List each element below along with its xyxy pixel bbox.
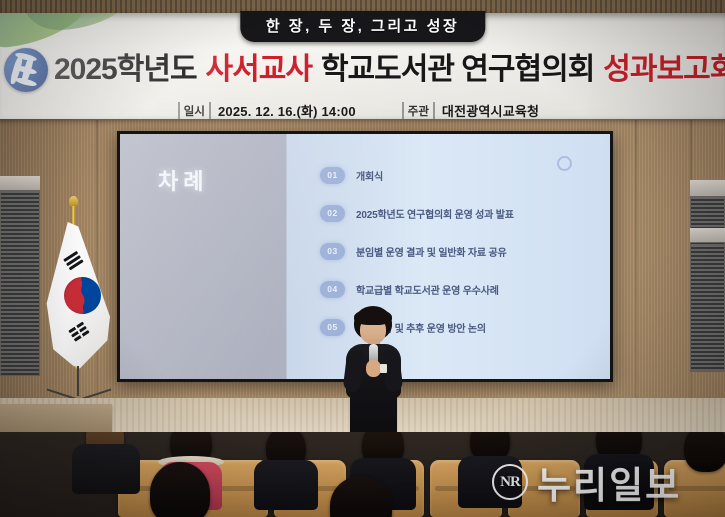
audience-head bbox=[684, 432, 725, 472]
audience-coat bbox=[72, 444, 140, 494]
presenter-name-badge bbox=[380, 364, 387, 373]
agenda-number-badge: 04 bbox=[320, 281, 345, 298]
banner-info-host-value: 대전광역시교육청 bbox=[442, 101, 539, 119]
agenda-item-label: 분임별 운영 결과 및 일반화 자료 공유 bbox=[356, 244, 506, 259]
banner-title-part-2: 사서교사 bbox=[206, 55, 312, 85]
flag-cloth bbox=[44, 222, 110, 370]
trigram-geon-icon bbox=[63, 251, 85, 272]
agenda-item-label: 개회식 bbox=[356, 168, 383, 183]
presenter-hair-front bbox=[354, 309, 392, 325]
banner-ribbon-tab: 한 장, 두 장, 그리고 성장 bbox=[240, 11, 485, 42]
presenter-with-microphone bbox=[330, 306, 416, 441]
agenda-number-badge: 02 bbox=[320, 205, 345, 222]
audience-head bbox=[150, 462, 210, 517]
right-vent-divider bbox=[690, 228, 725, 242]
banner-info-row: 일시 2025. 12. 16.(화) 14:00 주관 대전광역시교육청 bbox=[0, 101, 721, 119]
audience-coat bbox=[458, 456, 522, 508]
seated-audience bbox=[0, 432, 725, 517]
south-korea-flag-taegukgi bbox=[38, 196, 120, 416]
list-item: 04 학교급별 학교도서관 운영 우수사례 bbox=[320, 270, 610, 308]
taeguk-symbol-icon bbox=[57, 270, 108, 321]
conference-photo: 2025학년도 사서교사 학교도서관 연구협의회 성과보고회 일시 2025. … bbox=[0, 0, 725, 517]
banner-info-date-label: 일시 bbox=[178, 102, 211, 120]
banner-title: 2025학년도 사서교사 학교도서관 연구협의회 성과보고회 bbox=[54, 47, 716, 93]
daejeon-education-office-emblem bbox=[4, 48, 48, 92]
list-item: 03 분임별 운영 결과 및 일반화 자료 공유 bbox=[320, 232, 610, 270]
banner-title-part-3: 학교도서관 연구협의회 bbox=[321, 55, 594, 85]
banner-info-host: 주관 대전광역시교육청 bbox=[402, 101, 539, 119]
banner-info-date-value: 2025. 12. 16.(화) 14:00 bbox=[218, 101, 356, 119]
list-item: 02 2025학년도 연구협의회 운영 성과 발표 bbox=[320, 194, 610, 232]
agenda-item-label: 학교급별 학교도서관 운영 우수사례 bbox=[356, 282, 499, 297]
agenda-number-badge: 01 bbox=[320, 167, 345, 184]
banner-title-part-4: 성과보고회 bbox=[603, 55, 725, 85]
agenda-item-label: 2025학년도 연구협의회 운영 성과 발표 bbox=[356, 206, 514, 221]
trigram-gon-icon bbox=[68, 322, 90, 344]
audience-coat bbox=[254, 460, 318, 510]
banner-info-host-label: 주관 bbox=[402, 102, 435, 120]
left-wall-vent bbox=[0, 190, 40, 376]
agenda-number-badge: 03 bbox=[320, 243, 345, 260]
wall-panel-seam bbox=[635, 120, 637, 420]
right-vent-cap bbox=[690, 180, 725, 196]
left-vent-cap bbox=[0, 176, 40, 190]
banner-info-date: 일시 2025. 12. 16.(화) 14:00 bbox=[178, 101, 356, 119]
slide-heading: 차례 bbox=[158, 164, 208, 196]
audience-coat bbox=[584, 454, 654, 510]
list-item: 01 개회식 bbox=[320, 156, 610, 194]
banner-title-part-1: 2025학년도 bbox=[54, 55, 197, 85]
presenter-hands bbox=[366, 360, 381, 377]
right-wall-vent-lower bbox=[690, 244, 725, 372]
